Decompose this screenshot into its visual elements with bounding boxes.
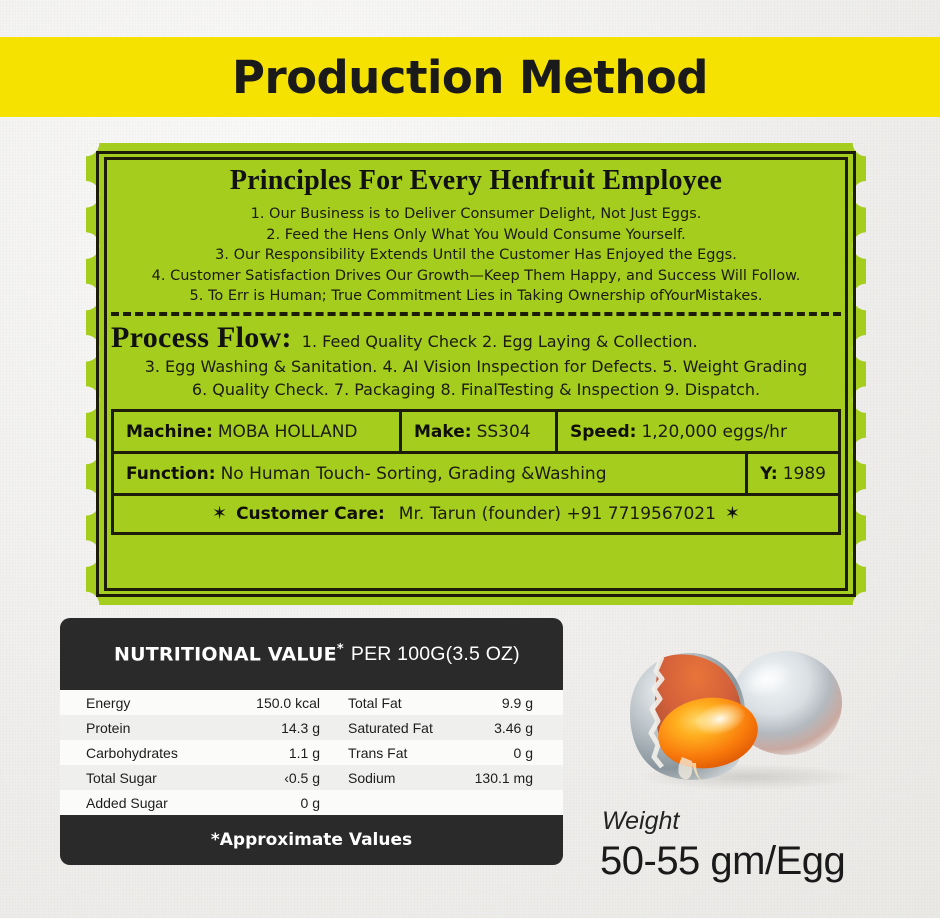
weight-section: Weight 50-55 gm/Egg: [590, 645, 910, 882]
process-flow-section: Process Flow: 1. Feed Quality Check 2. E…: [111, 321, 841, 401]
nutrient-label: Total Fat: [320, 695, 460, 711]
spec-cell-machine: Machine: MOBA HOLLAND: [114, 412, 399, 451]
star-icon: ✶: [725, 505, 740, 523]
spec-cell-customer-care: ✶ Customer Care: Mr. Tarun (founder) +91…: [114, 496, 838, 532]
nutrient-value: 130.1 mg: [460, 770, 563, 786]
principle-item: 3. Our Responsibility Extends Until the …: [111, 245, 841, 266]
principle-item: 2. Feed the Hens Only What You Would Con…: [111, 225, 841, 246]
spec-value-year: 1989: [783, 464, 826, 484]
spec-label-machine: Machine:: [126, 422, 213, 442]
spec-value-function: No Human Touch- Sorting, Grading &Washin…: [221, 464, 607, 484]
nutrition-panel: NUTRITIONAL VALUE* PER 100G(3.5 OZ) Ener…: [60, 618, 563, 865]
page-header-banner: Production Method: [0, 37, 940, 117]
nutrient-label: Added Sugar: [60, 795, 205, 811]
principle-item: 5. To Err is Human; True Commitment Lies…: [111, 286, 841, 307]
dashed-divider: [111, 312, 841, 316]
nutrient-value: 150.0 kcal: [205, 695, 320, 711]
principle-item: 4. Customer Satisfaction Drives Our Grow…: [111, 266, 841, 287]
nutrient-label: Trans Fat: [320, 745, 460, 761]
table-row: Added Sugar 0 g: [60, 790, 563, 815]
page-title: Production Method: [232, 55, 708, 100]
nutrient-value: 0 g: [460, 745, 563, 761]
spec-label-customer-care: Customer Care:: [236, 504, 385, 524]
process-flow-step-line: 6. Quality Check. 7. Packaging 8. FinalT…: [111, 378, 841, 401]
table-row: Protein 14.3 g Saturated Fat 3.46 g: [60, 715, 563, 740]
nutrient-label: Sodium: [320, 770, 460, 786]
nutrient-label: Protein: [60, 720, 205, 736]
spec-cell-speed: Speed: 1,20,000 eggs/hr: [555, 412, 838, 451]
process-flow-step-line: 3. Egg Washing & Sanitation. 4. AI Visio…: [111, 355, 841, 378]
spec-value-speed: 1,20,000 eggs/hr: [641, 422, 787, 442]
nutrition-header: NUTRITIONAL VALUE* PER 100G(3.5 OZ): [60, 618, 563, 690]
star-icon: ✶: [212, 505, 227, 523]
table-row: Carbohydrates 1.1 g Trans Fat 0 g: [60, 740, 563, 765]
nutrient-value: 3.46 g: [460, 720, 563, 736]
nutrition-header-title: NUTRITIONAL VALUE*: [114, 642, 344, 665]
spec-cell-year: Y: 1989: [745, 454, 838, 493]
production-method-ticket: Principles For Every Henfruit Employee 1…: [86, 143, 866, 605]
spec-value-make: SS304: [477, 422, 531, 442]
weight-label: Weight: [602, 809, 910, 834]
spec-label-year: Y:: [760, 464, 778, 484]
egg-icon: [598, 645, 878, 795]
spec-label-speed: Speed:: [570, 422, 636, 442]
table-row: Energy 150.0 kcal Total Fat 9.9 g: [60, 690, 563, 715]
nutrition-header-serving: PER 100G(3.5 OZ): [351, 643, 520, 666]
ticket-content: Principles For Every Henfruit Employee 1…: [96, 151, 856, 597]
weight-value: 50-55 gm/Egg: [600, 840, 910, 882]
process-flow-heading: Process Flow:: [111, 321, 292, 355]
principle-item: 1. Our Business is to Deliver Consumer D…: [111, 204, 841, 225]
nutrition-header-asterisk: *: [337, 642, 344, 657]
nutrition-table: Energy 150.0 kcal Total Fat 9.9 g Protei…: [60, 690, 563, 815]
nutrient-label: Carbohydrates: [60, 745, 205, 761]
principles-title: Principles For Every Henfruit Employee: [111, 165, 841, 197]
process-flow-step-inline: 1. Feed Quality Check 2. Egg Laying & Co…: [302, 332, 698, 351]
nutrient-value: 9.9 g: [460, 695, 563, 711]
machine-spec-table: Machine: MOBA HOLLAND Make: SS304 Speed:…: [111, 409, 841, 535]
nutrient-label: Energy: [60, 695, 205, 711]
spec-label-make: Make:: [414, 422, 472, 442]
nutrient-value: ‹0.5 g: [205, 770, 320, 786]
spec-row-customer-care: ✶ Customer Care: Mr. Tarun (founder) +91…: [111, 493, 841, 535]
nutrition-footer-note: *Approximate Values: [60, 815, 563, 865]
nutrient-value: 0 g: [205, 795, 320, 811]
nutrient-value: 14.3 g: [205, 720, 320, 736]
nutrient-value: 1.1 g: [205, 745, 320, 761]
table-row: Total Sugar ‹0.5 g Sodium 130.1 mg: [60, 765, 563, 790]
nutrient-label: Total Sugar: [60, 770, 205, 786]
spec-value-machine: MOBA HOLLAND: [218, 422, 358, 442]
spec-cell-make: Make: SS304: [399, 412, 555, 451]
spec-value-customer-care[interactable]: Mr. Tarun (founder) +91 7719567021: [399, 504, 716, 524]
principles-list: 1. Our Business is to Deliver Consumer D…: [111, 204, 841, 307]
spec-row-function: Function: No Human Touch- Sorting, Gradi…: [111, 451, 841, 493]
egg-illustration: [598, 645, 878, 795]
nutrient-label: Saturated Fat: [320, 720, 460, 736]
spec-row-machine: Machine: MOBA HOLLAND Make: SS304 Speed:…: [111, 409, 841, 451]
spec-cell-function: Function: No Human Touch- Sorting, Gradi…: [114, 454, 745, 493]
spec-label-function: Function:: [126, 464, 216, 484]
